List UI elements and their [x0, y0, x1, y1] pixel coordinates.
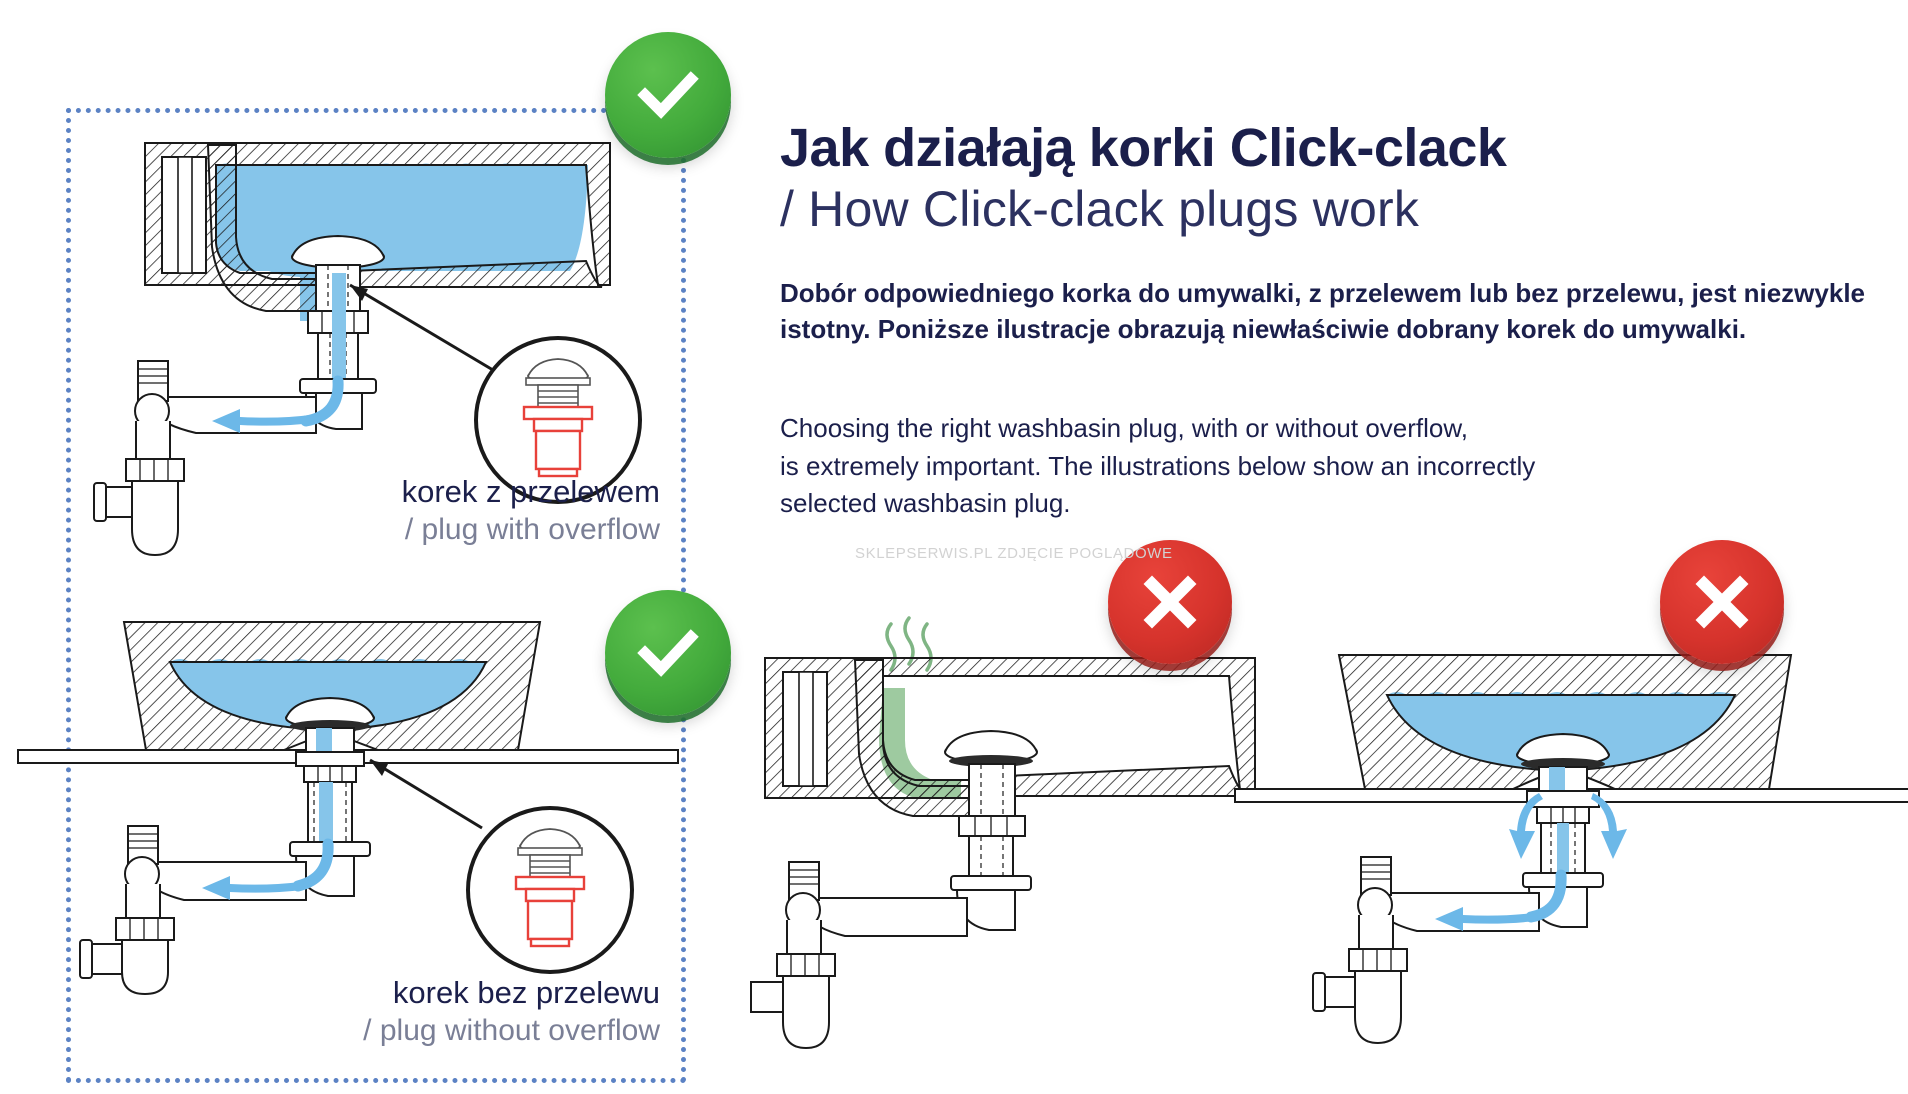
intro-paragraph-en-line-1: Choosing the right washbasin plug, with … [780, 410, 1890, 448]
status-badge-correct-without-overflow [605, 590, 731, 716]
heading-block: Jak działają korki Click-clack / How Cli… [780, 120, 1860, 237]
caption-with-overflow-en: / plug with overflow [200, 512, 660, 548]
caption-with-overflow-pl: korek z przelewem [200, 474, 660, 510]
check-icon [635, 620, 701, 686]
intro-paragraph-pl: Dobór odpowiedniego korka do umywalki, z… [780, 276, 1890, 348]
check-icon [635, 62, 701, 128]
cross-icon [1141, 573, 1199, 631]
page-title-pl: Jak działają korki Click-clack [780, 120, 1860, 177]
illustration-plug-without-overflow [78, 600, 638, 990]
watermark-text: SKLEPSERWIS.PL ZDJĘCIE POGLĄDOWE [855, 545, 1173, 562]
page-title-en: / How Click-clack plugs work [780, 181, 1860, 237]
illustration-wrong-plug-no-overflow-basin [1295, 615, 1895, 1045]
infographic-canvas: Jak działają korki Click-clack / How Cli… [0, 0, 1908, 1094]
intro-paragraph-en-line-3: selected washbasin plug. [780, 485, 1890, 523]
caption-plug-with-overflow: korek z przelewem / plug with overflow [200, 474, 660, 548]
caption-plug-without-overflow: korek bez przelewu / plug without overfl… [180, 975, 660, 1049]
intro-paragraph-en: Choosing the right washbasin plug, with … [780, 410, 1890, 523]
intro-paragraph-en-line-2: is extremely important. The illustration… [780, 448, 1890, 486]
status-badge-incorrect-no-overflow-basin [1660, 540, 1784, 664]
illustration-wrong-plug-overflow-basin [755, 630, 1295, 1050]
caption-without-overflow-en: / plug without overflow [180, 1013, 660, 1049]
cross-icon [1693, 573, 1751, 631]
status-badge-correct-with-overflow [605, 32, 731, 158]
caption-without-overflow-pl: korek bez przelewu [180, 975, 660, 1011]
